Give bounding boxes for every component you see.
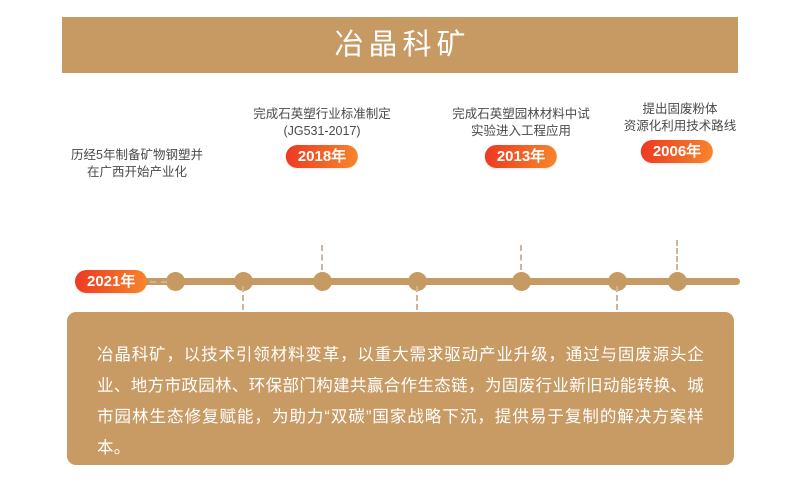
timeline-badge-2021[interactable]: 2021年 xyxy=(75,270,147,293)
timeline-badge-2013[interactable]: 2013年 xyxy=(485,145,557,168)
caption-line-1: 历经5年制备矿物钢塑并 xyxy=(67,147,207,164)
timeline: 历经5年制备矿物钢塑并 在广西开始产业化 2021年 2020年 完成石英塑行业… xyxy=(0,90,800,280)
timeline-badge-2006[interactable]: 2006年 xyxy=(641,140,713,163)
timeline-caption-2006: 提出固废粉体 资源化利用技术路线 xyxy=(580,101,780,135)
timeline-axis-line xyxy=(140,278,740,285)
timeline-dot-2018 xyxy=(313,272,332,291)
timeline-dot-2006 xyxy=(668,272,687,291)
page-root: 冶晶科矿 历经5年制备矿物钢塑并 在广西开始产业化 2021年 2020年 完 xyxy=(0,0,800,494)
connector-2018 xyxy=(321,245,323,270)
timeline-dot-2013 xyxy=(512,272,531,291)
info-card: 冶晶科矿，以技术引领材料变革，以重大需求驱动产业升级，通过与固废源头企业、地方市… xyxy=(67,312,734,465)
timeline-caption-2018: 完成石英塑行业标准制定 (JG531-2017) xyxy=(212,106,432,140)
header-banner: 冶晶科矿 xyxy=(62,17,738,73)
timeline-badge-2018[interactable]: 2018年 xyxy=(286,145,358,168)
timeline-dot-2021 xyxy=(166,272,185,291)
caption-line-2: 资源化利用技术路线 xyxy=(580,118,780,135)
caption-line-2: (JG531-2017) xyxy=(212,123,432,140)
page-title: 冶晶科矿 xyxy=(329,31,470,60)
connector-2008 xyxy=(616,286,618,310)
connector-2020 xyxy=(242,286,244,310)
caption-line-1: 提出固废粉体 xyxy=(580,101,780,118)
caption-line-2: 在广西开始产业化 xyxy=(67,164,207,181)
connector-2013 xyxy=(520,245,522,270)
timeline-caption-2021: 历经5年制备矿物钢塑并 在广西开始产业化 xyxy=(67,147,207,181)
connector-2006 xyxy=(676,240,678,270)
connector-2017 xyxy=(416,286,418,310)
info-card-text: 冶晶科矿，以技术引领材料变革，以重大需求驱动产业升级，通过与固废源头企业、地方市… xyxy=(97,340,704,464)
caption-line-1: 完成石英塑行业标准制定 xyxy=(212,106,432,123)
